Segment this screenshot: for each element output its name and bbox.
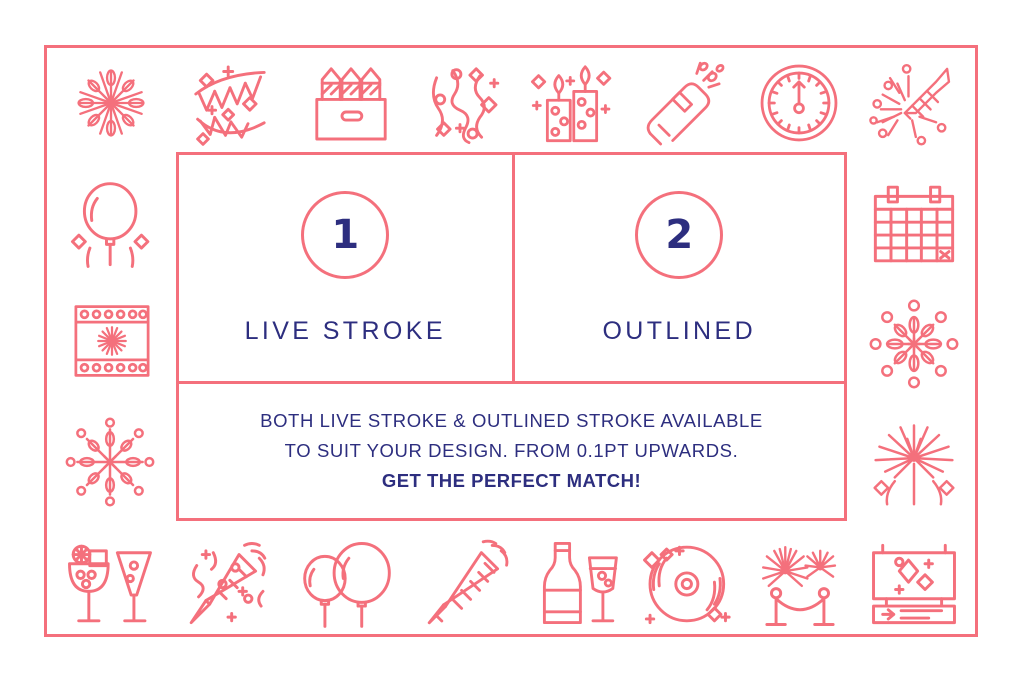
firework-burst-icon: [66, 58, 156, 148]
firework-radial-icon: [866, 296, 962, 392]
film-strip-firework-icon: [66, 298, 158, 384]
two-balloons-icon: [300, 538, 394, 630]
midnight-clock-icon: [755, 58, 843, 148]
calendar-icon: [868, 178, 960, 270]
candles-icon: [528, 56, 616, 148]
step-panel-outlined[interactable]: 2 OUTLINED: [512, 155, 845, 381]
firework-box-icon: [305, 58, 397, 148]
step-number-badge-2: 2: [635, 191, 723, 279]
description-line-2: TO SUIT YOUR DESIGN. FROM 0.1PT UPWARDS.: [285, 436, 739, 466]
champagne-bottle-glass-icon: [530, 536, 620, 630]
description-panel: BOTH LIVE STROKE & OUTLINED STROKE AVAIL…: [179, 384, 844, 518]
rocket-firecracker-icon: [868, 56, 960, 148]
cocktail-glasses-icon: [62, 538, 158, 630]
party-popper-icon: [180, 538, 276, 630]
step-label-live-stroke: LIVE STROKE: [245, 317, 446, 346]
champagne-popping-icon: [640, 55, 726, 147]
firework-starburst-icon: [62, 414, 158, 510]
vinyl-record-icon: [638, 538, 732, 630]
center-card: 1 LIVE STROKE 2 OUTLINED BOTH LIVE STROK…: [176, 152, 847, 521]
balloon-icon: [66, 180, 158, 272]
step-panel-live-stroke[interactable]: 1 LIVE STROKE: [179, 155, 512, 381]
party-horn-icon: [420, 540, 514, 630]
description-line-1: BOTH LIVE STROKE & OUTLINED STROKE AVAIL…: [260, 406, 763, 436]
step-number-badge-1: 1: [301, 191, 389, 279]
steps-row: 1 LIVE STROKE 2 OUTLINED: [179, 155, 844, 381]
step-label-outlined: OUTLINED: [602, 317, 756, 346]
firework-fountain-icon: [866, 414, 962, 510]
velvet-rope-fireworks-icon: [752, 538, 848, 630]
bunting-flags-icon: [184, 58, 276, 148]
sparkle-banner-icon: [866, 538, 962, 630]
description-line-3: GET THE PERFECT MATCH!: [382, 466, 641, 496]
confetti-streamers-icon: [423, 58, 515, 148]
poster-canvas: 1 LIVE STROKE 2 OUTLINED BOTH LIVE STROK…: [0, 0, 1024, 682]
